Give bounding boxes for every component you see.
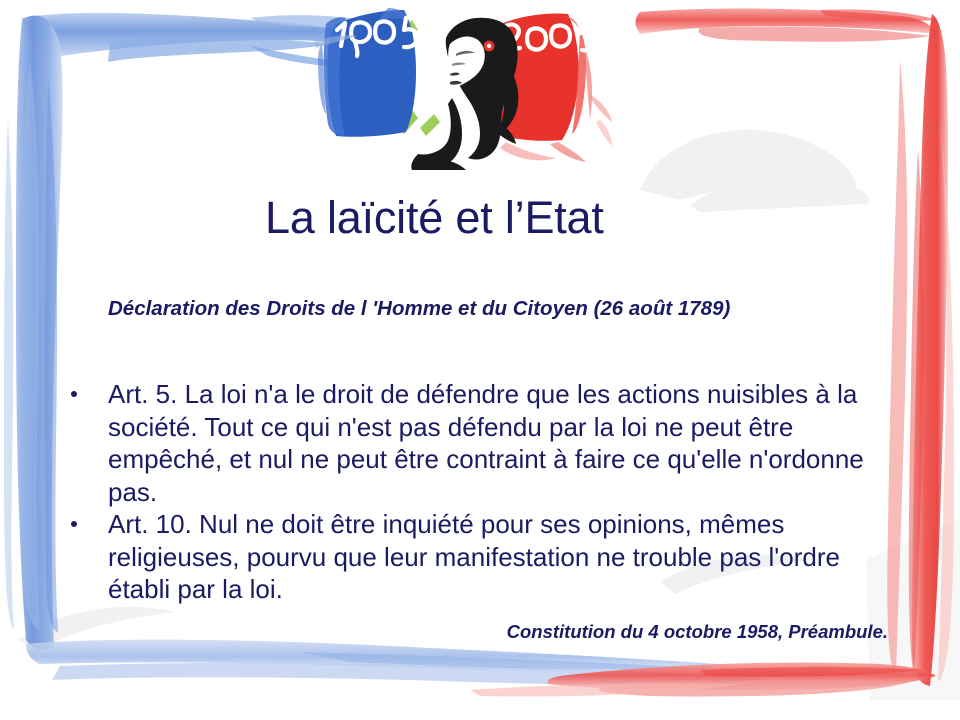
- list-item: Art. 5. La loi n'a le droit de défendre …: [62, 378, 894, 508]
- list-item: Art. 10. Nul ne doit être inquiété pour …: [62, 508, 894, 606]
- laicite-centenary-logo: [300, 2, 620, 170]
- bullet-dot-icon: [71, 391, 77, 397]
- slide: La laïcité et l’Etat Déclaration des Dro…: [0, 0, 960, 720]
- bullet-dot-icon: [71, 521, 77, 527]
- list-item-text: Art. 5. La loi n'a le droit de défendre …: [108, 379, 864, 507]
- source-subtitle: Déclaration des Droits de l 'Homme et du…: [108, 296, 878, 321]
- list-item-text: Art. 10. Nul ne doit être inquiété pour …: [108, 509, 840, 604]
- article-list: Art. 5. La loi n'a le droit de défendre …: [62, 378, 894, 606]
- attribution-text: Constitution du 4 octobre 1958, Préambul…: [108, 620, 900, 643]
- page-title: La laïcité et l’Etat: [265, 192, 604, 244]
